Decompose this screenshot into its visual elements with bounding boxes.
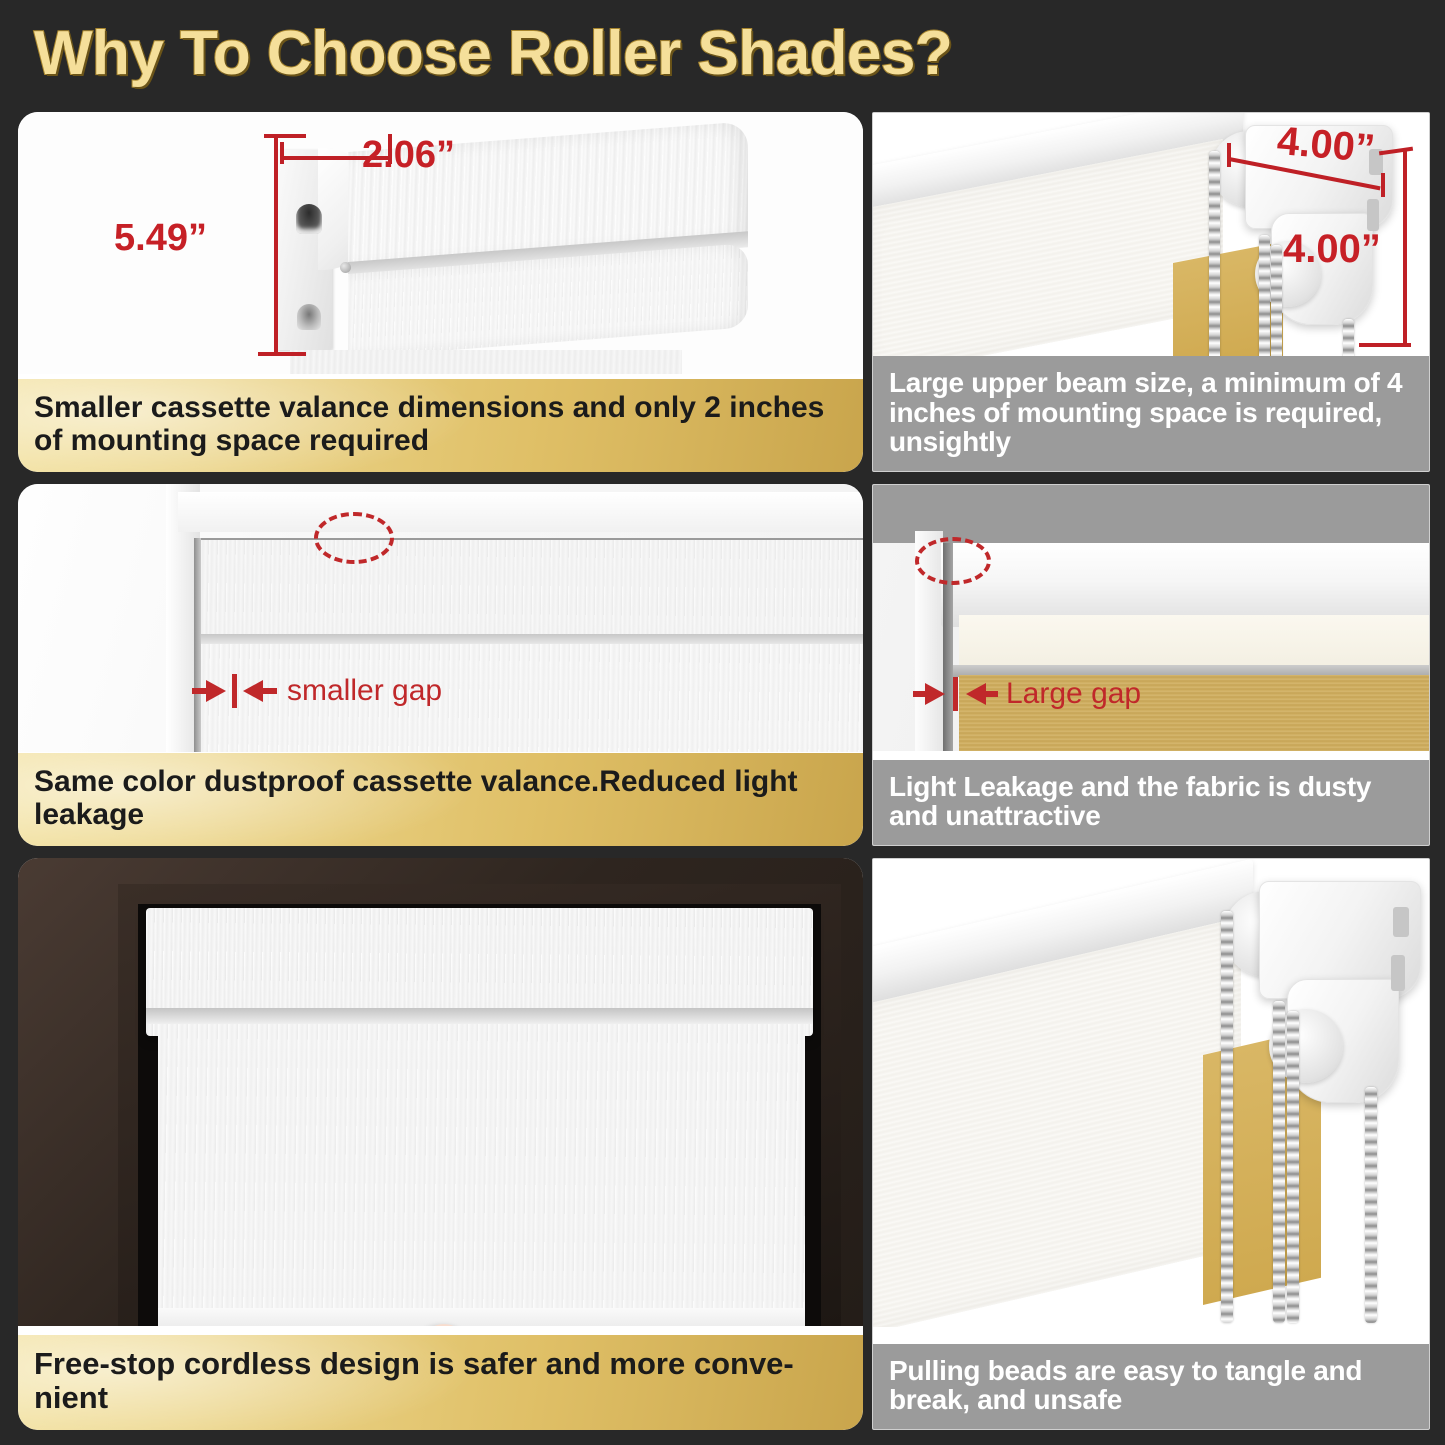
gap-label-4: Large gap xyxy=(1006,677,1141,711)
highlight-ellipse xyxy=(314,512,394,564)
gap-arrow-tail-left-4 xyxy=(913,691,925,697)
panel-6-caption: Pulling beads are easy to tangle and bre… xyxy=(873,1344,1429,1429)
cassette-valance-face xyxy=(200,538,863,636)
panel-4-photo: Large gap xyxy=(873,485,1429,751)
mounting-slot-bottom xyxy=(297,304,321,330)
mounting-slot-top xyxy=(296,204,322,234)
smaller-gap-annotation: smaller gap xyxy=(192,674,442,708)
bracket-slot-2-6 xyxy=(1391,955,1405,991)
highlight-ellipse-4 xyxy=(915,537,991,585)
bead-chain-left xyxy=(1209,151,1220,375)
panel-5-caption: Free-stop cordless design is safer and m… xyxy=(18,1335,863,1430)
bead-chain-mid-6 xyxy=(1273,1001,1285,1323)
infographic-page: Why To Choose Roller Shades? 2.06” xyxy=(0,0,1445,1445)
panel-3-photo: smaller gap xyxy=(18,484,863,752)
bead-chain-loop-6 xyxy=(1365,1087,1377,1323)
panel-1-caption: Smaller cassette valance dimensions and … xyxy=(18,379,863,472)
gap-arrow-left-icon-4 xyxy=(966,683,986,705)
panel-3-caption: Same color dustproof cassette valance.Re… xyxy=(18,753,863,846)
panel-6-photo xyxy=(873,859,1429,1327)
panel-1-pro-cassette: 2.06” 5.49” Smaller cassette valance dim… xyxy=(18,112,863,472)
page-title: Why To Choose Roller Shades? xyxy=(0,18,952,89)
screw-icon xyxy=(340,262,351,273)
gap-arrow-left-icon xyxy=(243,680,263,702)
cordless-bottom-rail xyxy=(158,1308,805,1326)
panel-2-photo: 4.00” 4.00” xyxy=(873,113,1429,375)
gap-arrow-tail-right-4 xyxy=(986,691,998,697)
panel-2-con-large-beam: 4.00” 4.00” Large upper beam size, a min… xyxy=(872,112,1430,472)
panel-3-pro-dustproof: smaller gap Same color dustproof cassett… xyxy=(18,484,863,846)
cordless-valance-lip xyxy=(146,1008,813,1024)
bead-chain-left-6 xyxy=(1221,911,1233,1323)
dim-height-label: 5.49” xyxy=(114,217,207,260)
gap-arrow-tail-right xyxy=(263,688,277,694)
dim-width-tick-left-2 xyxy=(1227,143,1231,167)
panel-5-photo xyxy=(18,858,863,1326)
dim-height-tick-top xyxy=(264,134,306,138)
ceiling-band xyxy=(873,485,1429,543)
dim-width-label-2: 4.00” xyxy=(1275,119,1376,172)
bead-chain-right-6 xyxy=(1287,1011,1299,1323)
dim-width-tick-left xyxy=(280,142,284,164)
bracket-slot-1-6 xyxy=(1393,907,1409,937)
gap-measure-bar-4 xyxy=(953,677,958,711)
panel-4-caption: Light Leakage and the fabric is dusty an… xyxy=(873,760,1429,845)
gap-arrow-tail-left xyxy=(192,688,206,694)
panel-6-con-pulling-beads: Pulling beads are easy to tangle and bre… xyxy=(872,858,1430,1430)
dim-height-line xyxy=(274,134,278,356)
panel-5-pro-cordless: Free-stop cordless design is safer and m… xyxy=(18,858,863,1430)
bead-chain-mid xyxy=(1259,235,1270,375)
page-header: Why To Choose Roller Shades? xyxy=(0,0,1445,106)
dim-height-label-2: 4.00” xyxy=(1283,227,1381,272)
large-gap-annotation: Large gap xyxy=(913,677,1141,711)
shade-side-edge xyxy=(194,538,201,752)
dim-height-line-2 xyxy=(1403,149,1407,345)
panel-2-caption: Large upper beam size, a minimum of 4 in… xyxy=(873,356,1429,471)
gap-label: smaller gap xyxy=(287,674,442,708)
comparison-grid: 2.06” 5.49” Smaller cassette valance dim… xyxy=(0,106,1445,1445)
cordless-shade-fabric xyxy=(158,1024,805,1314)
panel-4-con-light-leakage: Large gap Light Leakage and the fabric i… xyxy=(872,484,1430,846)
gap-measure-bar xyxy=(232,674,237,708)
window-head-trim xyxy=(178,492,863,532)
dim-width-tick-right-2 xyxy=(1381,173,1385,197)
dim-height-tick-bottom-2 xyxy=(1359,343,1411,347)
panel-1-photo: 2.06” 5.49” xyxy=(18,112,863,374)
dim-width-label: 2.06” xyxy=(362,134,455,177)
valance-fabric-drop xyxy=(290,350,682,374)
white-fabric-band xyxy=(959,615,1429,669)
gap-arrow-right-icon xyxy=(206,680,226,702)
gap-arrow-right-icon-4 xyxy=(925,683,945,705)
dim-height-tick-bottom xyxy=(258,352,306,356)
